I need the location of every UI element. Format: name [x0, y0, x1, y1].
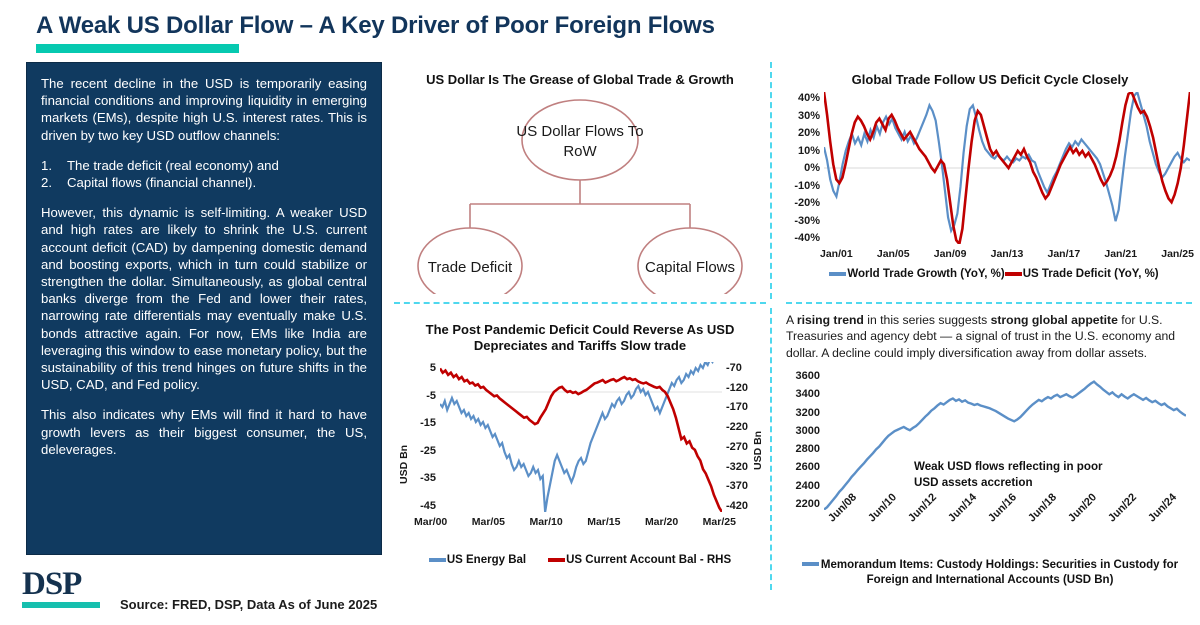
x-tick: Jan/25 — [1161, 248, 1194, 260]
node-capital-flows-label: Capital Flows — [645, 259, 735, 276]
y-tick: -20% — [794, 197, 820, 209]
x-tick: Jan/01 — [820, 248, 853, 260]
divider-vertical-top — [770, 62, 772, 299]
y-tick-left: 5 — [430, 362, 436, 374]
x-tick: Mar/00 — [414, 516, 447, 528]
diagram-title: US Dollar Is The Grease of Global Trade … — [392, 72, 768, 88]
y-tick-left: -15 — [420, 417, 436, 429]
y-tick: 0% — [804, 162, 820, 174]
x-tick: Mar/25 — [703, 516, 736, 528]
divider-vertical-bottom — [770, 308, 772, 590]
custody-note: A rising trend in this series suggests s… — [786, 312, 1190, 361]
x-tick: Mar/15 — [587, 516, 620, 528]
y-tick-right: -220 — [726, 421, 748, 433]
x-tick: Jan/21 — [1104, 248, 1137, 260]
y-tick: 10% — [798, 145, 820, 157]
plot-area — [824, 92, 1190, 244]
usd-flow-diagram: US Dollar Is The Grease of Global Trade … — [392, 72, 768, 297]
note-seg-3: in this series suggests — [864, 313, 991, 327]
chart-title: The Post Pandemic Deficit Could Reverse … — [400, 322, 760, 354]
y-tick: 2200 — [796, 498, 820, 510]
y-tick: 40% — [798, 92, 820, 104]
chart-annotation: Weak USD flows reflecting in poor USD as… — [914, 459, 1114, 491]
legend-label: US Trade Deficit (YoY, %) — [1023, 268, 1159, 280]
y-tick: -30% — [794, 215, 820, 227]
y-tick-left: -5 — [426, 390, 436, 402]
x-axis-labels: Jun/08Jun/10Jun/12Jun/14Jun/16Jun/18Jun/… — [824, 512, 1186, 552]
legend-label: World Trade Growth (YoY, %) — [847, 268, 1004, 280]
y-tick: 20% — [798, 127, 820, 139]
narrative-panel: The recent decline in the USD is tempora… — [26, 62, 382, 555]
narrative-paragraph-1: The recent decline in the USD is tempora… — [41, 75, 367, 144]
series-us-current-account-bal — [440, 368, 722, 512]
note-seg-4-bold: strong global appetite — [991, 313, 1118, 327]
x-tick: Jan/17 — [1048, 248, 1081, 260]
y-tick: 2800 — [796, 443, 820, 455]
y-axis-labels: 36003400320030002800260024002200 — [786, 370, 820, 510]
legend-swatch — [802, 562, 819, 566]
x-tick: Jan/13 — [991, 248, 1024, 260]
plot-svg — [440, 362, 722, 512]
chart-global-trade-vs-deficit: Global Trade Follow US Deficit Cycle Clo… — [786, 72, 1194, 298]
list-item-number: 1. — [41, 157, 67, 174]
node-root-label-line2: RoW — [563, 143, 597, 160]
y-tick: 3000 — [796, 425, 820, 437]
divider-horizontal-left — [394, 302, 766, 304]
divider-horizontal-right — [786, 302, 1192, 304]
node-root-label-line1: US Dollar Flows To — [516, 123, 643, 140]
plot-svg — [824, 92, 1190, 244]
legend-swatch — [1005, 272, 1022, 276]
plot-area — [440, 362, 722, 512]
legend-item: US Trade Deficit (YoY, %) — [1005, 268, 1159, 280]
x-axis-labels: Mar/00Mar/05Mar/10Mar/15Mar/20Mar/25 — [414, 516, 736, 528]
list-item-label: Capital flows (financial channel). — [67, 174, 256, 191]
y-tick-right: -120 — [726, 382, 748, 394]
y-tick: 30% — [798, 110, 820, 122]
y-tick-right: -170 — [726, 401, 748, 413]
legend-label: Memorandum Items: Custody Holdings: Secu… — [821, 559, 1178, 586]
y-tick-right: -270 — [726, 441, 748, 453]
legend-item: US Energy Bal — [429, 554, 526, 566]
legend-label: US Energy Bal — [447, 554, 526, 566]
x-tick: Jan/05 — [877, 248, 910, 260]
y-axis-labels: 40%30%20%10%0%-10%-20%-30%-40% — [786, 92, 820, 244]
note-seg-2-bold: rising trend — [797, 313, 864, 327]
y-tick: 2600 — [796, 461, 820, 473]
list-item: 2. Capital flows (financial channel). — [41, 174, 367, 191]
x-tick: Jan/09 — [934, 248, 967, 260]
y-tick-right: -420 — [726, 500, 748, 512]
x-tick: Mar/05 — [472, 516, 505, 528]
y-tick-right: -70 — [726, 362, 742, 374]
chart-legend: World Trade Growth (YoY, %)US Trade Defi… — [794, 268, 1194, 280]
legend-swatch — [548, 558, 565, 562]
chart-title: Global Trade Follow US Deficit Cycle Clo… — [786, 72, 1194, 88]
chart-legend: US Energy BalUS Current Account Bal - RH… — [392, 554, 768, 566]
chart-custody-holdings: A rising trend in this series suggests s… — [786, 312, 1194, 592]
y-tick-left: -45 — [420, 500, 436, 512]
y-tick: 2400 — [796, 480, 820, 492]
logo-text: DSP — [22, 568, 100, 601]
legend-swatch — [429, 558, 446, 562]
legend-item: World Trade Growth (YoY, %) — [829, 268, 1004, 280]
y-tick: 3600 — [796, 370, 820, 382]
list-item-number: 2. — [41, 174, 67, 191]
y-tick: 3400 — [796, 388, 820, 400]
y-axis-title-right: USD Bn — [752, 431, 764, 470]
diagram-svg: US Dollar Flows To RoW Trade Deficit Cap… — [392, 94, 768, 294]
narrative-paragraph-2: However, this dynamic is self-limiting. … — [41, 204, 367, 393]
chart-us-energy-current-account: The Post Pandemic Deficit Could Reverse … — [392, 322, 768, 590]
y-tick: 3200 — [796, 407, 820, 419]
x-tick: Mar/20 — [645, 516, 678, 528]
y-tick-right: -320 — [726, 461, 748, 473]
legend-label: US Current Account Bal - RHS — [566, 554, 731, 566]
narrative-list: 1. The trade deficit (real economy) and … — [41, 157, 367, 191]
list-item: 1. The trade deficit (real economy) and — [41, 157, 367, 174]
legend-swatch — [829, 272, 846, 276]
dsp-logo: DSP — [22, 568, 100, 608]
list-item-label: The trade deficit (real economy) and — [67, 157, 279, 174]
narrative-paragraph-3: This also indicates why EMs will find it… — [41, 406, 367, 458]
node-root-shape — [522, 100, 638, 180]
note-seg-1: A — [786, 313, 797, 327]
x-axis-labels: Jan/01Jan/05Jan/09Jan/13Jan/17Jan/21Jan/… — [820, 248, 1194, 260]
node-trade-deficit-label: Trade Deficit — [428, 259, 513, 276]
y-tick: -10% — [794, 180, 820, 192]
y-tick-left: -35 — [420, 472, 436, 484]
y-tick-left: -25 — [420, 445, 436, 457]
x-tick: Mar/10 — [529, 516, 562, 528]
y-axis-labels-left: 5-5-15-25-35-45 — [408, 362, 436, 512]
series-world-trade-growth — [824, 92, 1190, 231]
page-title: A Weak US Dollar Flow – A Key Driver of … — [36, 12, 715, 40]
logo-underline — [22, 602, 100, 608]
legend-item: US Current Account Bal - RHS — [548, 554, 731, 566]
y-tick-right: -370 — [726, 480, 748, 492]
title-accent-bar — [36, 44, 239, 53]
y-tick: -40% — [794, 232, 820, 244]
chart-legend: Memorandum Items: Custody Holdings: Secu… — [786, 558, 1194, 588]
source-note: Source: FRED, DSP, Data As of June 2025 — [120, 597, 377, 612]
